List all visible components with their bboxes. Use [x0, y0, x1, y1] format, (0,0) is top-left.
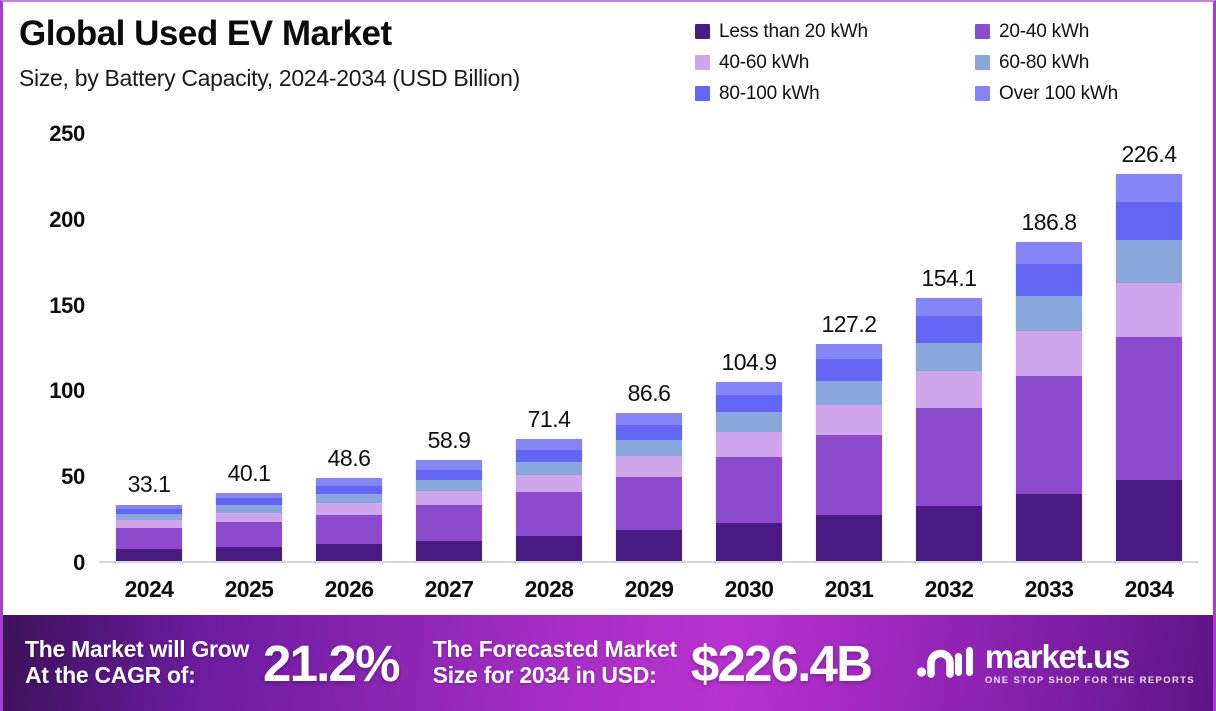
legend-item-label: 80-100 kWh — [719, 83, 819, 105]
bar-segment[interactable] — [716, 412, 782, 432]
bar-segment[interactable] — [416, 470, 482, 480]
forecast-label: The Forecasted Market Size for 2034 in U… — [433, 637, 677, 689]
bar-value-label: 127.2 — [799, 311, 899, 338]
bar-segment[interactable] — [916, 343, 982, 372]
bar-stack[interactable] — [1016, 242, 1082, 561]
legend-item-label: Over 100 kWh — [999, 83, 1118, 105]
bar-segment[interactable] — [216, 498, 282, 505]
legend-item[interactable]: 80-100 kWh — [695, 83, 975, 105]
bar-segment[interactable] — [1116, 480, 1182, 561]
bar-column[interactable]: 154.1 — [899, 134, 999, 561]
bar-segment[interactable] — [716, 457, 782, 523]
bar-segment[interactable] — [816, 515, 882, 561]
bar-series-container: 33.140.148.658.971.486.6104.9127.2154.11… — [99, 134, 1199, 561]
legend-swatch-icon — [975, 55, 990, 70]
bar-segment[interactable] — [716, 432, 782, 457]
bar-column[interactable]: 104.9 — [699, 134, 799, 561]
bar-stack[interactable] — [416, 460, 482, 561]
brand-name: market.us — [985, 640, 1195, 673]
brand-text-block: market.us ONE STOP SHOP FOR THE REPORTS — [985, 640, 1195, 686]
bars-region: 33.140.148.658.971.486.6104.9127.2154.11… — [99, 134, 1199, 563]
x-axis-tick-label: 2029 — [599, 576, 699, 603]
bar-segment[interactable] — [1116, 240, 1182, 283]
legend-swatch-icon — [695, 86, 710, 101]
bar-segment[interactable] — [716, 523, 782, 561]
bar-segment[interactable] — [316, 486, 382, 494]
bar-segment[interactable] — [916, 316, 982, 342]
bar-segment[interactable] — [716, 395, 782, 413]
bar-value-label: 40.1 — [199, 460, 299, 487]
bar-segment[interactable] — [1016, 264, 1082, 296]
plot-area: 050100150200250 33.140.148.658.971.486.6… — [11, 134, 1203, 615]
footer-banner: The Market will Grow At the CAGR of: 21.… — [3, 615, 1213, 711]
x-axis-tick-label: 2034 — [1099, 576, 1199, 603]
bar-segment[interactable] — [516, 475, 582, 492]
bar-segment[interactable] — [616, 530, 682, 561]
x-axis-tick-label: 2027 — [399, 576, 499, 603]
bar-segment[interactable] — [516, 536, 582, 561]
bar-segment[interactable] — [516, 450, 582, 462]
bar-segment[interactable] — [416, 491, 482, 505]
bar-stack[interactable] — [716, 382, 782, 561]
bar-segment[interactable] — [1016, 376, 1082, 494]
legend-swatch-icon — [975, 24, 990, 39]
bar-value-label: 86.6 — [599, 380, 699, 407]
bar-column[interactable]: 40.1 — [199, 134, 299, 561]
legend-item-label: 40-60 kWh — [719, 52, 809, 74]
bar-segment[interactable] — [1116, 202, 1182, 241]
legend-swatch-icon — [695, 24, 710, 39]
chart-header: Global Used EV Market Size, by Battery C… — [3, 2, 1213, 134]
bar-segment[interactable] — [316, 494, 382, 503]
bar-segment[interactable] — [616, 477, 682, 530]
bar-segment[interactable] — [1116, 283, 1182, 337]
bar-segment[interactable] — [616, 425, 682, 440]
brand-logo: market.us ONE STOP SHOP FOR THE REPORTS — [916, 640, 1195, 686]
bar-stack[interactable] — [616, 413, 682, 561]
bar-value-label: 186.8 — [999, 209, 1099, 236]
bar-stack[interactable] — [516, 439, 582, 561]
y-axis-tick-label: 100 — [49, 378, 85, 404]
bar-value-label: 33.1 — [99, 471, 199, 498]
infographic-root: Global Used EV Market Size, by Battery C… — [0, 0, 1216, 711]
x-axis-tick-label: 2026 — [299, 576, 399, 603]
bar-stack[interactable] — [916, 298, 982, 561]
legend-item[interactable]: 60-80 kWh — [975, 52, 1205, 74]
bar-segment[interactable] — [416, 541, 482, 561]
cagr-value: 21.2% — [263, 634, 399, 693]
bar-segment[interactable] — [616, 413, 682, 425]
x-axis-tick-label: 2033 — [999, 576, 1099, 603]
bar-segment[interactable] — [616, 440, 682, 456]
chart-legend: Less than 20 kWh20-40 kWh40-60 kWh60-80 … — [695, 16, 1205, 109]
bar-segment[interactable] — [716, 382, 782, 395]
bar-segment[interactable] — [516, 492, 582, 536]
bar-segment[interactable] — [1016, 331, 1082, 376]
y-axis-tick-label: 0 — [73, 550, 85, 576]
bar-segment[interactable] — [216, 505, 282, 513]
x-axis-tick-label: 2032 — [899, 576, 999, 603]
legend-item[interactable]: 20-40 kWh — [975, 21, 1205, 43]
bar-stack[interactable] — [316, 478, 382, 561]
bar-stack[interactable] — [1116, 174, 1182, 561]
bar-segment[interactable] — [816, 344, 882, 359]
bar-stack[interactable] — [116, 504, 182, 561]
bar-value-label: 104.9 — [699, 349, 799, 376]
axis-baseline — [99, 561, 1199, 563]
bar-segment[interactable] — [516, 462, 582, 475]
bar-stack[interactable] — [216, 493, 282, 561]
bar-segment[interactable] — [1116, 174, 1182, 201]
brand-tagline: ONE STOP SHOP FOR THE REPORTS — [985, 676, 1195, 686]
x-axis-tick-label: 2024 — [99, 576, 199, 603]
legend-item-label: 20-40 kWh — [999, 21, 1089, 43]
bar-column[interactable]: 58.9 — [399, 134, 499, 561]
bar-column[interactable]: 71.4 — [499, 134, 599, 561]
bar-segment[interactable] — [416, 480, 482, 491]
legend-item-label: Less than 20 kWh — [719, 21, 868, 43]
bar-column[interactable]: 86.6 — [599, 134, 699, 561]
bar-segment[interactable] — [1116, 337, 1182, 480]
cagr-label: The Market will Grow At the CAGR of: — [25, 637, 249, 689]
bar-segment[interactable] — [616, 456, 682, 477]
bar-segment[interactable] — [1016, 296, 1082, 331]
market-us-wave-logo-icon — [916, 641, 974, 686]
bar-segment[interactable] — [916, 298, 982, 316]
bar-segment[interactable] — [216, 513, 282, 523]
y-axis-tick-label: 250 — [49, 121, 85, 147]
bar-value-label: 48.6 — [299, 445, 399, 472]
x-axis-tick-label: 2025 — [199, 576, 299, 603]
x-axis: 2024202520262027202820292030203120322033… — [99, 569, 1199, 609]
bar-value-label: 226.4 — [1099, 141, 1199, 168]
bar-segment[interactable] — [816, 381, 882, 405]
bar-segment[interactable] — [216, 522, 282, 547]
bar-value-label: 154.1 — [899, 265, 999, 292]
bar-segment[interactable] — [116, 520, 182, 528]
y-axis: 050100150200250 — [11, 134, 97, 563]
bar-segment[interactable] — [316, 515, 382, 545]
x-axis-tick-label: 2030 — [699, 576, 799, 603]
bar-segment[interactable] — [816, 405, 882, 435]
bar-segment[interactable] — [816, 435, 882, 515]
bar-value-label: 58.9 — [399, 427, 499, 454]
bar-segment[interactable] — [416, 505, 482, 541]
bar-segment[interactable] — [116, 549, 182, 561]
bar-segment[interactable] — [916, 506, 982, 561]
legend-swatch-icon — [695, 55, 710, 70]
bar-segment[interactable] — [1016, 494, 1082, 561]
bar-segment[interactable] — [516, 439, 582, 450]
bar-column[interactable]: 127.2 — [799, 134, 899, 561]
bar-segment[interactable] — [916, 371, 982, 408]
bar-column[interactable]: 226.4 — [1099, 134, 1199, 561]
bar-segment[interactable] — [316, 503, 382, 515]
bar-column[interactable]: 33.1 — [99, 134, 199, 561]
bar-segment[interactable] — [1016, 242, 1082, 264]
bar-segment[interactable] — [116, 528, 182, 548]
legend-item[interactable]: Less than 20 kWh — [695, 21, 975, 43]
bar-column[interactable]: 186.8 — [999, 134, 1099, 561]
y-axis-tick-label: 200 — [49, 207, 85, 233]
legend-item[interactable]: 40-60 kWh — [695, 52, 975, 74]
legend-item[interactable]: Over 100 kWh — [975, 83, 1205, 105]
bar-value-label: 71.4 — [499, 406, 599, 433]
bar-segment[interactable] — [416, 460, 482, 469]
bar-segment[interactable] — [816, 359, 882, 381]
bar-stack[interactable] — [816, 344, 882, 561]
y-axis-tick-label: 50 — [61, 464, 85, 490]
bar-segment[interactable] — [316, 478, 382, 486]
legend-swatch-icon — [975, 86, 990, 101]
y-axis-tick-label: 150 — [49, 293, 85, 319]
x-axis-tick-label: 2028 — [499, 576, 599, 603]
bar-column[interactable]: 48.6 — [299, 134, 399, 561]
x-axis-tick-label: 2031 — [799, 576, 899, 603]
legend-item-label: 60-80 kWh — [999, 52, 1089, 74]
forecast-value: $226.4B — [691, 634, 871, 693]
bar-segment[interactable] — [216, 547, 282, 561]
bar-segment[interactable] — [916, 408, 982, 505]
bar-segment[interactable] — [316, 544, 382, 561]
